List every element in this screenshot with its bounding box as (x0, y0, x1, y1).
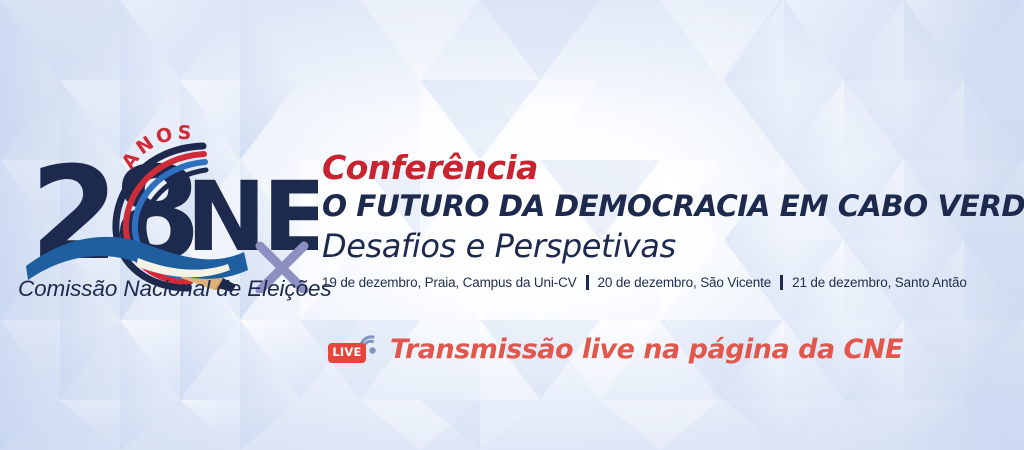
live-stream-notice: LIVE Transmissão live na página da CNE (328, 332, 903, 366)
kicker-label: Conferência (322, 150, 1012, 186)
venue-separator-icon (586, 275, 589, 290)
venue-item-1: 19 de dezembro, Praia, Campus da Uni-CV (322, 275, 577, 290)
logo-caption: Comissão Nacional de Eleições (18, 276, 318, 302)
cne-logo-mark: 28 NE (18, 118, 318, 293)
conference-subtitle: Desafios e Perspetivas (322, 227, 1012, 266)
venue-item-2: 20 de dezembro, São Vicente (598, 275, 772, 290)
conference-text-block: Conferência O FUTURO DA DEMOCRACIA EM CA… (322, 150, 1012, 290)
live-broadcast-icon: LIVE (328, 332, 380, 366)
cne-logo: 28 NE (18, 118, 318, 308)
venue-separator-icon (780, 275, 783, 290)
conference-banner: 28 NE (0, 0, 1024, 450)
conference-title: O FUTURO DA DEMOCRACIA EM CABO VERDE: (322, 189, 1012, 225)
venue-item-3: 21 de dezembro, Santo Antão (792, 275, 967, 290)
venue-list: 19 de dezembro, Praia, Campus da Uni-CV … (322, 275, 1012, 290)
live-chip-label: LIVE (328, 343, 366, 363)
live-message: Transmissão live na página da CNE (390, 334, 903, 365)
